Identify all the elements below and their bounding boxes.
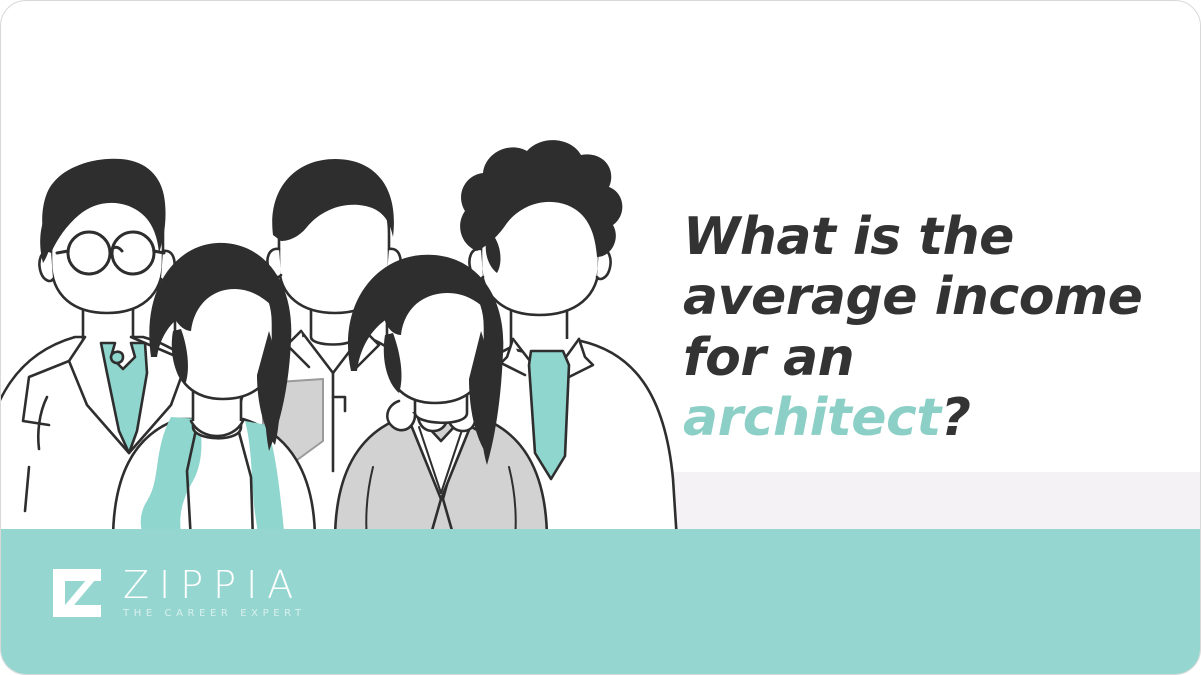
zippia-infographic-card: What is the average income for an archit…	[0, 0, 1201, 675]
illustration-svg	[1, 1, 701, 541]
zippia-tagline: THE CAREER EXPERT	[123, 609, 306, 619]
headline-accent-word: architect	[683, 388, 941, 448]
zippia-logo-text: ZIPPIA THE CAREER EXPERT	[123, 566, 306, 619]
headline-prefix: for an	[683, 328, 854, 388]
zippia-z-logo-icon	[51, 567, 103, 619]
headline-suffix: ?	[941, 388, 971, 448]
zippia-logo[interactable]: ZIPPIA THE CAREER EXPERT	[51, 566, 306, 619]
headline-line-2: average income	[683, 267, 1153, 327]
headline-line-1: What is the	[683, 207, 1153, 267]
headline-line-3: for an architect?	[683, 328, 1153, 449]
professionals-illustration	[1, 1, 701, 541]
page-title: What is the average income for an archit…	[683, 207, 1153, 448]
zippia-wordmark: ZIPPIA	[123, 566, 306, 604]
